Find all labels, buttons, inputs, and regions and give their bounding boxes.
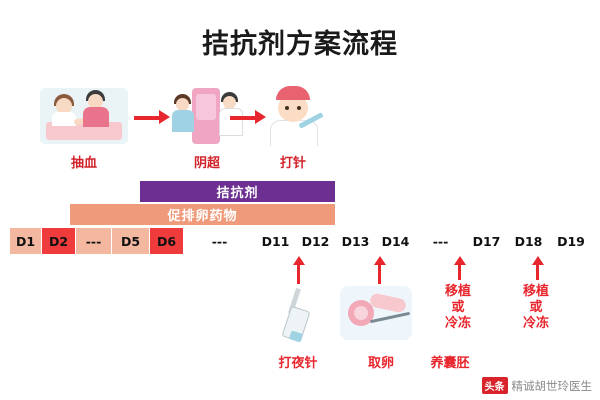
blood-draw-illustration — [40, 88, 128, 144]
syringe-illustration — [272, 288, 320, 340]
timeline-cell-d14[interactable]: D14 — [376, 228, 416, 254]
arrow-d12 — [297, 262, 300, 284]
arrow-head-d12 — [293, 256, 305, 265]
arrow-ultrasound-to-injection — [230, 116, 256, 120]
event-label-night-shot: 打夜针 — [270, 356, 326, 372]
arrow-head-2 — [255, 110, 266, 124]
arrow-head-d14 — [374, 256, 386, 265]
timeline-cell-gap3: --- — [416, 228, 466, 254]
step-label-ultrasound: 阴超 — [167, 152, 247, 171]
event-label-transfer-17-line3: 冷冻 — [430, 316, 486, 332]
event-label-transfer-17-line2: 或 — [430, 300, 486, 316]
ultrasound-illustration — [170, 84, 244, 146]
timeline: D1 D2 --- D5 D6 --- D11 D12 D13 D14 --- … — [10, 228, 592, 254]
step-label-injection: 打针 — [253, 152, 333, 171]
injection-illustration — [262, 84, 324, 146]
timeline-cell-d13[interactable]: D13 — [336, 228, 376, 254]
arrow-blood-to-ultrasound — [134, 116, 160, 120]
timeline-cell-d12[interactable]: D12 — [296, 228, 336, 254]
timeline-cell-d5[interactable]: D5 — [112, 228, 150, 254]
event-label-egg-retrieval: 取卵 — [353, 356, 409, 372]
event-label-transfer-17-line1: 移植 — [430, 284, 486, 300]
bar-ovulation-drug: 促排卵药物 — [70, 204, 335, 225]
arrow-head-d17 — [454, 256, 466, 265]
watermark: 头条 精诚胡世玲医生 — [482, 377, 593, 394]
watermark-text: 精诚胡世玲医生 — [512, 378, 593, 394]
bar-antagonist: 拮抗剂 — [140, 181, 335, 202]
ovary-illustration — [340, 286, 412, 340]
watermark-badge: 头条 — [482, 377, 508, 394]
arrow-head-d19 — [532, 256, 544, 265]
event-label-transfer-19-line2: 或 — [508, 300, 564, 316]
event-label-transfer-19-line1: 移植 — [508, 284, 564, 300]
timeline-cell-d17[interactable]: D17 — [466, 228, 508, 254]
timeline-cell-d18[interactable]: D18 — [508, 228, 550, 254]
event-group-transfer-17: 移植 或 冷冻 — [430, 284, 486, 332]
timeline-cell-d1[interactable]: D1 — [10, 228, 42, 254]
step-label-blood-draw: 抽血 — [44, 152, 124, 171]
timeline-cell-d6[interactable]: D6 — [150, 228, 184, 254]
arrow-head-1 — [159, 110, 170, 124]
timeline-cell-d19[interactable]: D19 — [550, 228, 592, 254]
arrow-d14 — [378, 262, 381, 284]
event-label-transfer-19-line3: 冷冻 — [508, 316, 564, 332]
timeline-cell-d11[interactable]: D11 — [256, 228, 296, 254]
timeline-cell-gap2: --- — [184, 228, 256, 254]
event-group-transfer-19: 移植 或 冷冻 — [508, 284, 564, 332]
timeline-cell-gap1: --- — [76, 228, 112, 254]
event-label-blastocyst: 养囊胚 — [416, 356, 484, 372]
timeline-cell-d2[interactable]: D2 — [42, 228, 76, 254]
diagram-root: 拮抗剂方案流程 抽血 阴超 打针 拮抗剂 促排卵药物 D1 D2 --- D5 … — [0, 0, 600, 400]
page-title: 拮抗剂方案流程 — [0, 22, 600, 61]
